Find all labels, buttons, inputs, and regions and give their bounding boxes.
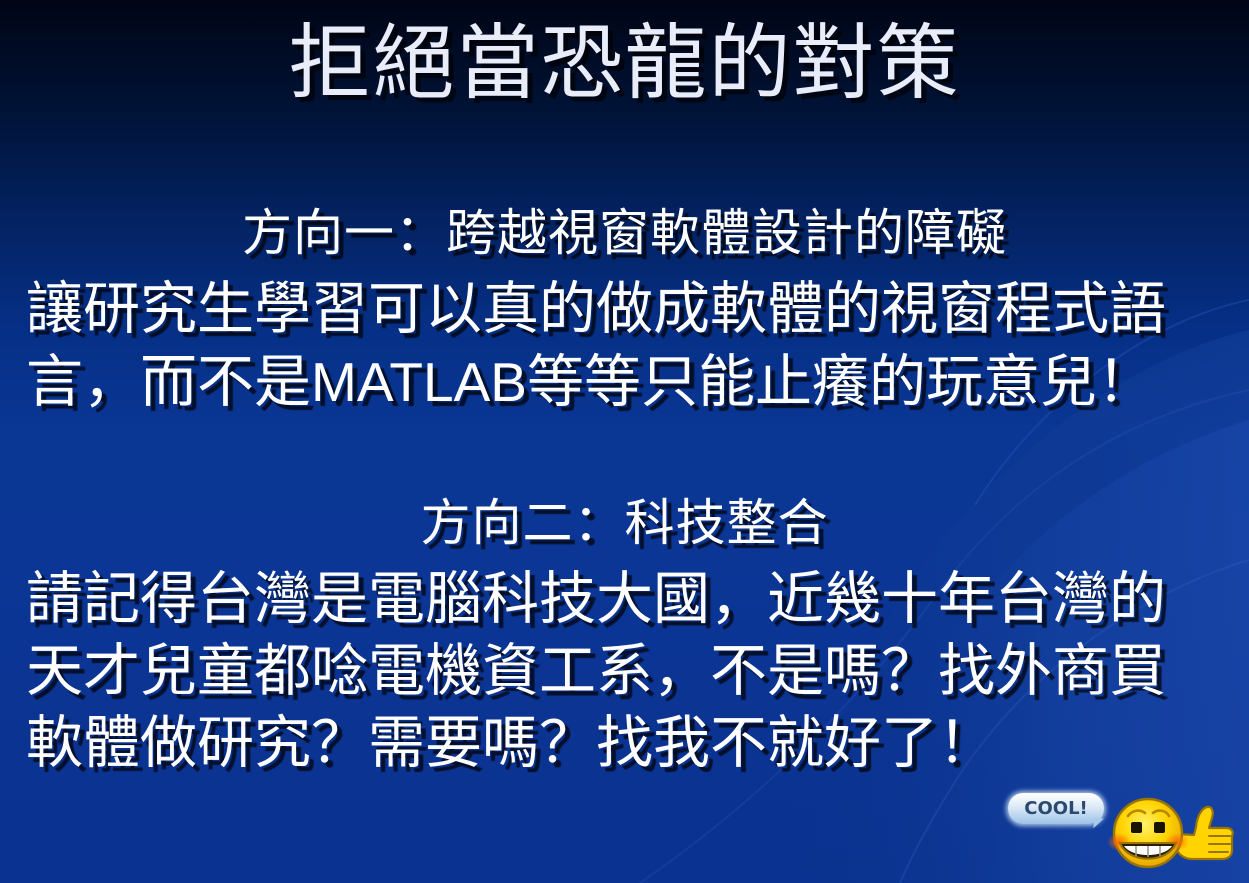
section-one-line-2-after: 等等只能止癢的玩意兒！ <box>527 351 1154 414</box>
speech-bubble-tail <box>1093 817 1103 829</box>
smiley-thumbs-up-icon <box>1106 794 1242 872</box>
section-one-line-2: 言，而不是MATLAB等等只能止癢的玩意兒！ <box>0 346 1249 418</box>
section-one-heading: 方向一：跨越視窗軟體設計的障礙 <box>0 196 1249 270</box>
section-two-line-2: 天才兒童都唸電機資工系，不是嗎？找外商買 <box>0 636 1249 708</box>
thumbs-up-hand <box>1176 807 1233 859</box>
slide-title: 拒絕當恐龍的對策 <box>0 18 1249 110</box>
section-two-line-1: 請記得台灣是電腦科技大國，近幾十年台灣的 <box>0 564 1249 636</box>
section-one-line-2-before: 言，而不是 <box>26 351 311 414</box>
section-two-heading: 方向二：科技整合 <box>0 486 1249 560</box>
section-spacer <box>0 418 1249 486</box>
speech-bubble: COOL! <box>1008 793 1104 824</box>
matlab-label: MATLAB <box>311 351 527 413</box>
presentation-slide: 拒絕當恐龍的對策 方向一：跨越視窗軟體設計的障礙 讓研究生學習可以真的做成軟體的… <box>0 0 1249 883</box>
section-one-line-1: 讓研究生學習可以真的做成軟體的視窗程式語 <box>0 274 1249 346</box>
cool-smiley-clipart: COOL! <box>1002 788 1242 876</box>
slide-body: 方向一：跨越視窗軟體設計的障礙 讓研究生學習可以真的做成軟體的視窗程式語 言，而… <box>0 196 1249 780</box>
speech-bubble-text: COOL! <box>1024 800 1088 818</box>
section-two-line-3: 軟體做研究？需要嗎？找我不就好了！ <box>0 708 1249 780</box>
smiley-face <box>1107 799 1189 867</box>
